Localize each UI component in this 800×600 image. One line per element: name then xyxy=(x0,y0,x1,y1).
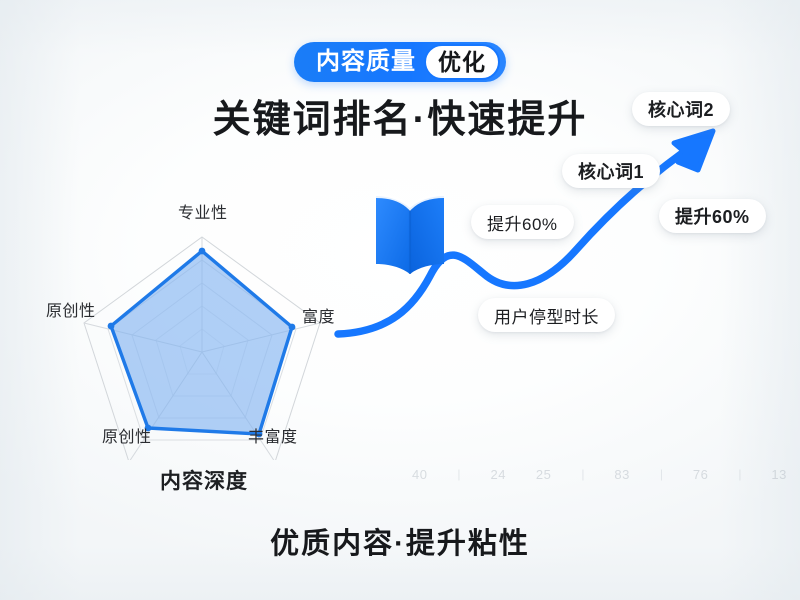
badge-main-label: 内容质量 xyxy=(316,50,424,74)
radar-series-content-quality xyxy=(108,248,296,438)
scale-value: 40 xyxy=(412,467,427,482)
scale-value: 13 xyxy=(771,467,786,482)
scale-value: 83 xyxy=(614,467,629,482)
radar-label-top: 专业性 xyxy=(178,199,228,223)
scale-tick: | xyxy=(738,468,741,480)
content-quality-badge[interactable]: 内容质量 优化 xyxy=(294,42,506,82)
bottom-headline: 优质内容·提升粘性 xyxy=(0,520,800,562)
radar-label-bottom-left: 原创性 xyxy=(102,423,152,447)
scale-tick: | xyxy=(457,468,460,480)
callout-uplift-left[interactable]: 提升60% xyxy=(471,205,574,239)
radar-label-bottom-right: 丰富度 xyxy=(248,423,298,447)
scale-value: 24 xyxy=(491,467,506,482)
faint-scale-axis: 40 | 24 25 | 83 | 76 | 13 xyxy=(412,462,787,486)
scale-value: 25 xyxy=(536,467,551,482)
callout-core-keyword-1[interactable]: 核心词1 xyxy=(562,154,660,188)
poster-canvas: 内容质量 优化 关键词排名·快速提升 xyxy=(0,0,800,600)
radar-label-left: 原创性 xyxy=(46,297,96,321)
callout-dwell-time[interactable]: 用户停型时长 xyxy=(478,298,615,332)
callout-core-keyword-2[interactable]: 核心词2 xyxy=(632,92,730,126)
radar-chart: 专业性 富度 丰富度 原创性 原创性 xyxy=(30,185,370,460)
scale-tick: | xyxy=(660,468,663,480)
scale-value: 76 xyxy=(693,467,708,482)
caption-content-depth: 内容深度 xyxy=(160,465,248,495)
radar-label-right: 富度 xyxy=(302,303,335,327)
open-book-icon xyxy=(368,186,452,278)
badge-chip-label: 优化 xyxy=(424,44,500,80)
callout-uplift-right[interactable]: 提升60% xyxy=(659,199,766,233)
header-badge-wrap: 内容质量 优化 xyxy=(0,42,800,82)
scale-tick: | xyxy=(581,468,584,480)
